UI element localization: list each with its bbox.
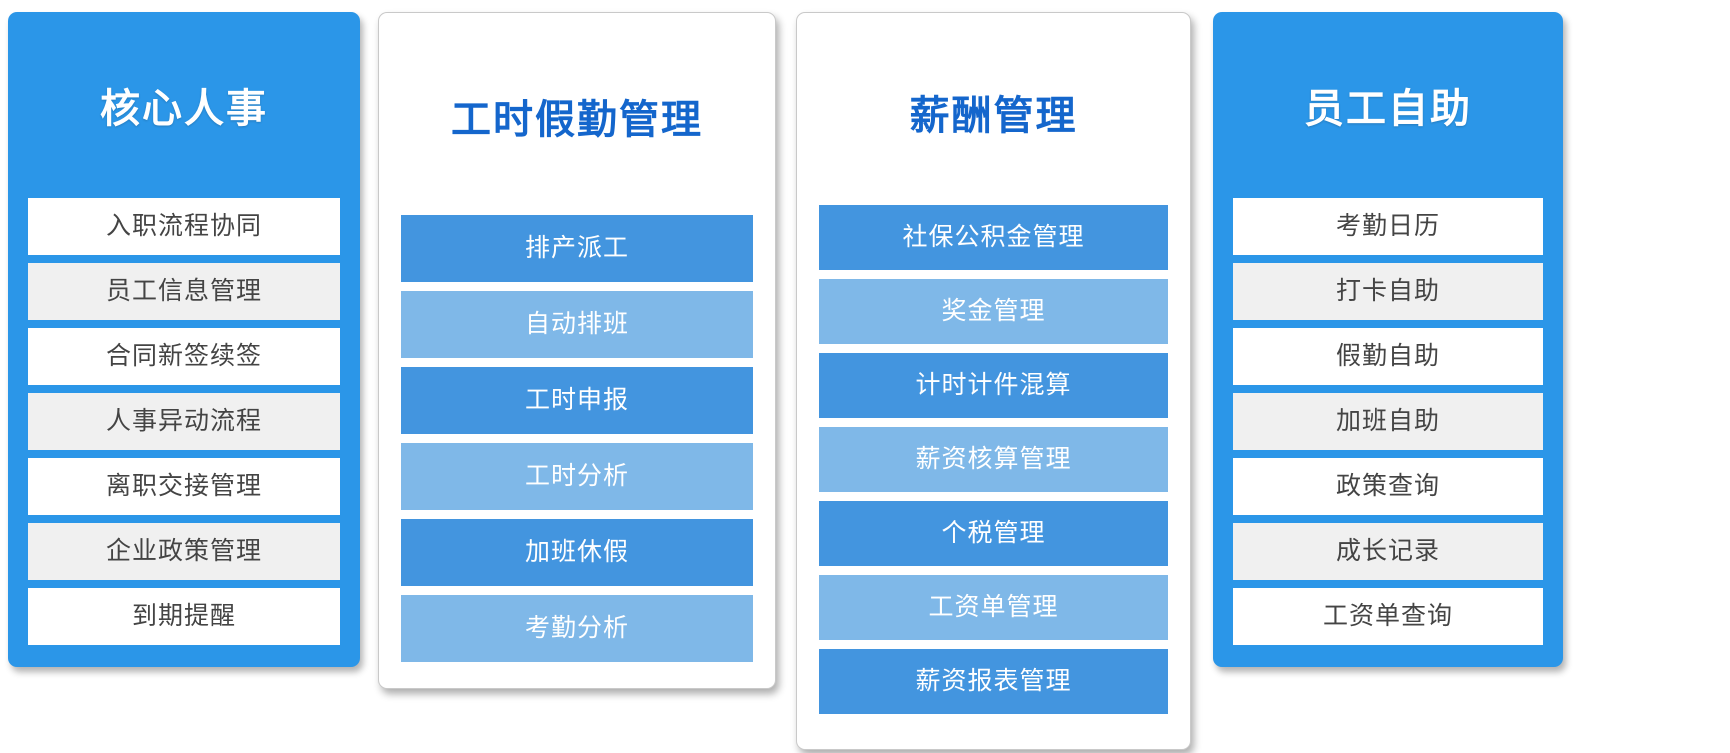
module-item-core-hr-2[interactable]: 员工信息管理	[28, 263, 340, 320]
module-item-core-hr-5[interactable]: 离职交接管理	[28, 458, 340, 515]
module-item-payroll-1[interactable]: 社保公积金管理	[819, 205, 1168, 270]
module-item-core-hr-1[interactable]: 入职流程协同	[28, 198, 340, 255]
column-title-time-attendance: 工时假勤管理	[401, 46, 753, 182]
column-title-payroll: 薪酬管理	[819, 46, 1168, 172]
module-column-core-hr: 核心人事 入职流程协同 员工信息管理 合同新签续签 人事异动流程 离职交接管理 …	[8, 12, 360, 667]
module-item-time-3[interactable]: 工时申报	[401, 367, 753, 434]
module-item-self-1[interactable]: 考勤日历	[1233, 198, 1543, 255]
module-item-time-1[interactable]: 排产派工	[401, 215, 753, 282]
module-item-payroll-7[interactable]: 薪资报表管理	[819, 649, 1168, 714]
module-item-payroll-4[interactable]: 薪资核算管理	[819, 427, 1168, 492]
module-overview-board: 核心人事 入职流程协同 员工信息管理 合同新签续签 人事异动流程 离职交接管理 …	[0, 0, 1730, 753]
column-title-core-hr: 核心人事	[28, 45, 340, 165]
module-item-core-hr-4[interactable]: 人事异动流程	[28, 393, 340, 450]
module-item-self-7[interactable]: 工资单查询	[1233, 588, 1543, 645]
module-item-time-5[interactable]: 加班休假	[401, 519, 753, 586]
module-item-time-4[interactable]: 工时分析	[401, 443, 753, 510]
module-item-payroll-2[interactable]: 奖金管理	[819, 279, 1168, 344]
module-item-core-hr-6[interactable]: 企业政策管理	[28, 523, 340, 580]
module-column-time-attendance: 工时假勤管理 排产派工 自动排班 工时申报 工时分析 加班休假 考勤分析	[378, 12, 776, 689]
module-item-payroll-5[interactable]: 个税管理	[819, 501, 1168, 566]
module-column-payroll: 薪酬管理 社保公积金管理 奖金管理 计时计件混算 薪资核算管理 个税管理 工资单…	[796, 12, 1191, 750]
module-item-self-4[interactable]: 加班自助	[1233, 393, 1543, 450]
module-item-time-6[interactable]: 考勤分析	[401, 595, 753, 662]
module-item-self-6[interactable]: 成长记录	[1233, 523, 1543, 580]
module-item-self-3[interactable]: 假勤自助	[1233, 328, 1543, 385]
module-item-payroll-6[interactable]: 工资单管理	[819, 575, 1168, 640]
module-column-employee-self-service: 员工自助 考勤日历 打卡自助 假勤自助 加班自助 政策查询 成长记录 工资单查询	[1213, 12, 1563, 667]
module-item-core-hr-3[interactable]: 合同新签续签	[28, 328, 340, 385]
module-item-self-5[interactable]: 政策查询	[1233, 458, 1543, 515]
module-item-payroll-3[interactable]: 计时计件混算	[819, 353, 1168, 418]
module-item-core-hr-7[interactable]: 到期提醒	[28, 588, 340, 645]
column-title-employee-self-service: 员工自助	[1233, 45, 1543, 165]
module-item-time-2[interactable]: 自动排班	[401, 291, 753, 358]
module-item-self-2[interactable]: 打卡自助	[1233, 263, 1543, 320]
